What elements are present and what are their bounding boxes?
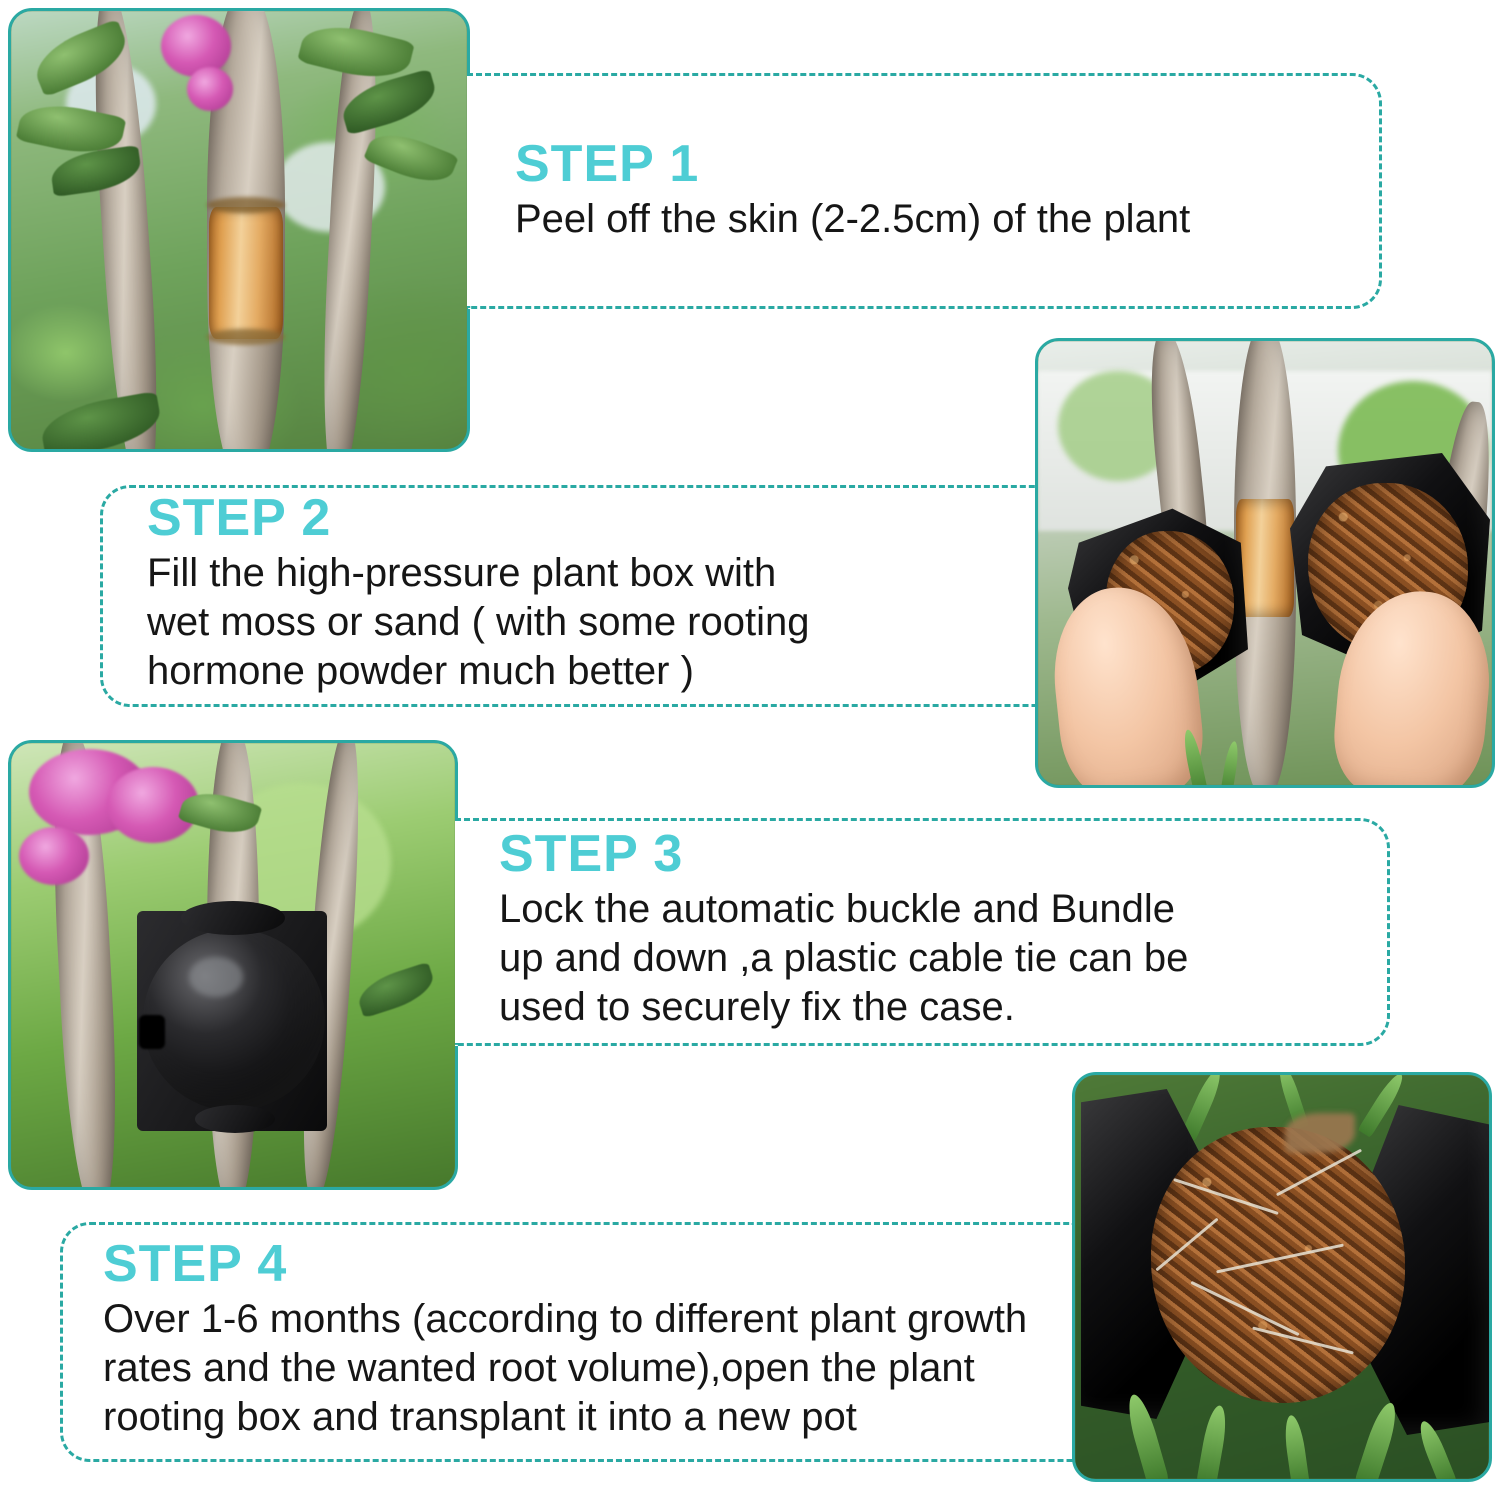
step-3-line-1: Lock the automatic buckle and Bundle — [499, 885, 1387, 934]
step-4-scene — [1075, 1075, 1489, 1479]
cut-edge-bottom — [207, 329, 285, 345]
buckle-side-port — [139, 1015, 165, 1049]
peeled-bark-ring — [1236, 499, 1294, 617]
step-3-photo — [8, 740, 458, 1190]
step-4-body: Over 1-6 months (according to different … — [103, 1295, 1075, 1443]
step-4-line-1: Over 1-6 months (according to different … — [103, 1295, 1075, 1344]
dry-leaf-fragment — [1285, 1113, 1355, 1153]
step-3-line-2: up and down ,a plastic cable tie can be — [499, 934, 1387, 983]
step-3-textbox: STEP 3 Lock the automatic buckle and Bun… — [455, 818, 1390, 1046]
step-3-body: Lock the automatic buckle and Bundle up … — [499, 885, 1387, 1033]
sphere-highlight — [189, 957, 243, 997]
step-3-scene — [11, 743, 455, 1187]
step-2-textbox: STEP 2 Fill the high-pressure plant box … — [100, 485, 1040, 707]
step-1-body: Peel off the skin (2-2.5cm) of the plant — [515, 195, 1379, 244]
step-2-line-1: Fill the high-pressure plant box with — [147, 549, 1040, 598]
step-2-heading: STEP 2 — [147, 492, 1040, 545]
step-4-line-3: rooting box and transplant it into a new… — [103, 1393, 1075, 1442]
step-1-line-1: Peel off the skin (2-2.5cm) of the plant — [515, 195, 1379, 244]
step-1-heading: STEP 1 — [515, 138, 1379, 191]
step-1-photo — [8, 8, 470, 452]
step-4-line-2: rates and the wanted root volume),open t… — [103, 1344, 1075, 1393]
plant-box-collar-bottom — [195, 1105, 275, 1133]
blossom-cluster-top — [161, 15, 231, 77]
plant-box-collar-top — [181, 901, 285, 935]
blossom-cluster-c — [19, 827, 89, 885]
step-2-photo — [1035, 338, 1495, 788]
plant-box-sphere — [143, 929, 325, 1111]
step-2-body: Fill the high-pressure plant box with we… — [147, 549, 1040, 697]
step-4-photo — [1072, 1072, 1492, 1482]
step-3-heading: STEP 3 — [499, 828, 1387, 881]
step-1-textbox: STEP 1 Peel off the skin (2-2.5cm) of th… — [467, 73, 1382, 309]
infographic-canvas: STEP 1 Peel off the skin (2-2.5cm) of th… — [0, 0, 1500, 1490]
step-2-scene — [1038, 341, 1492, 785]
step-1-scene — [11, 11, 467, 449]
step-4-textbox: STEP 4 Over 1-6 months (according to dif… — [60, 1222, 1075, 1462]
step-3-line-3: used to securely fix the case. — [499, 983, 1387, 1032]
peeled-bark-ring — [209, 207, 283, 339]
step-4-heading: STEP 4 — [103, 1238, 1075, 1291]
cut-edge-top — [207, 197, 285, 213]
step-2-line-3: hormone powder much better ) — [147, 647, 1040, 696]
step-2-line-2: wet moss or sand ( with some rooting — [147, 598, 1040, 647]
blossom-cluster-top-2 — [187, 67, 233, 111]
